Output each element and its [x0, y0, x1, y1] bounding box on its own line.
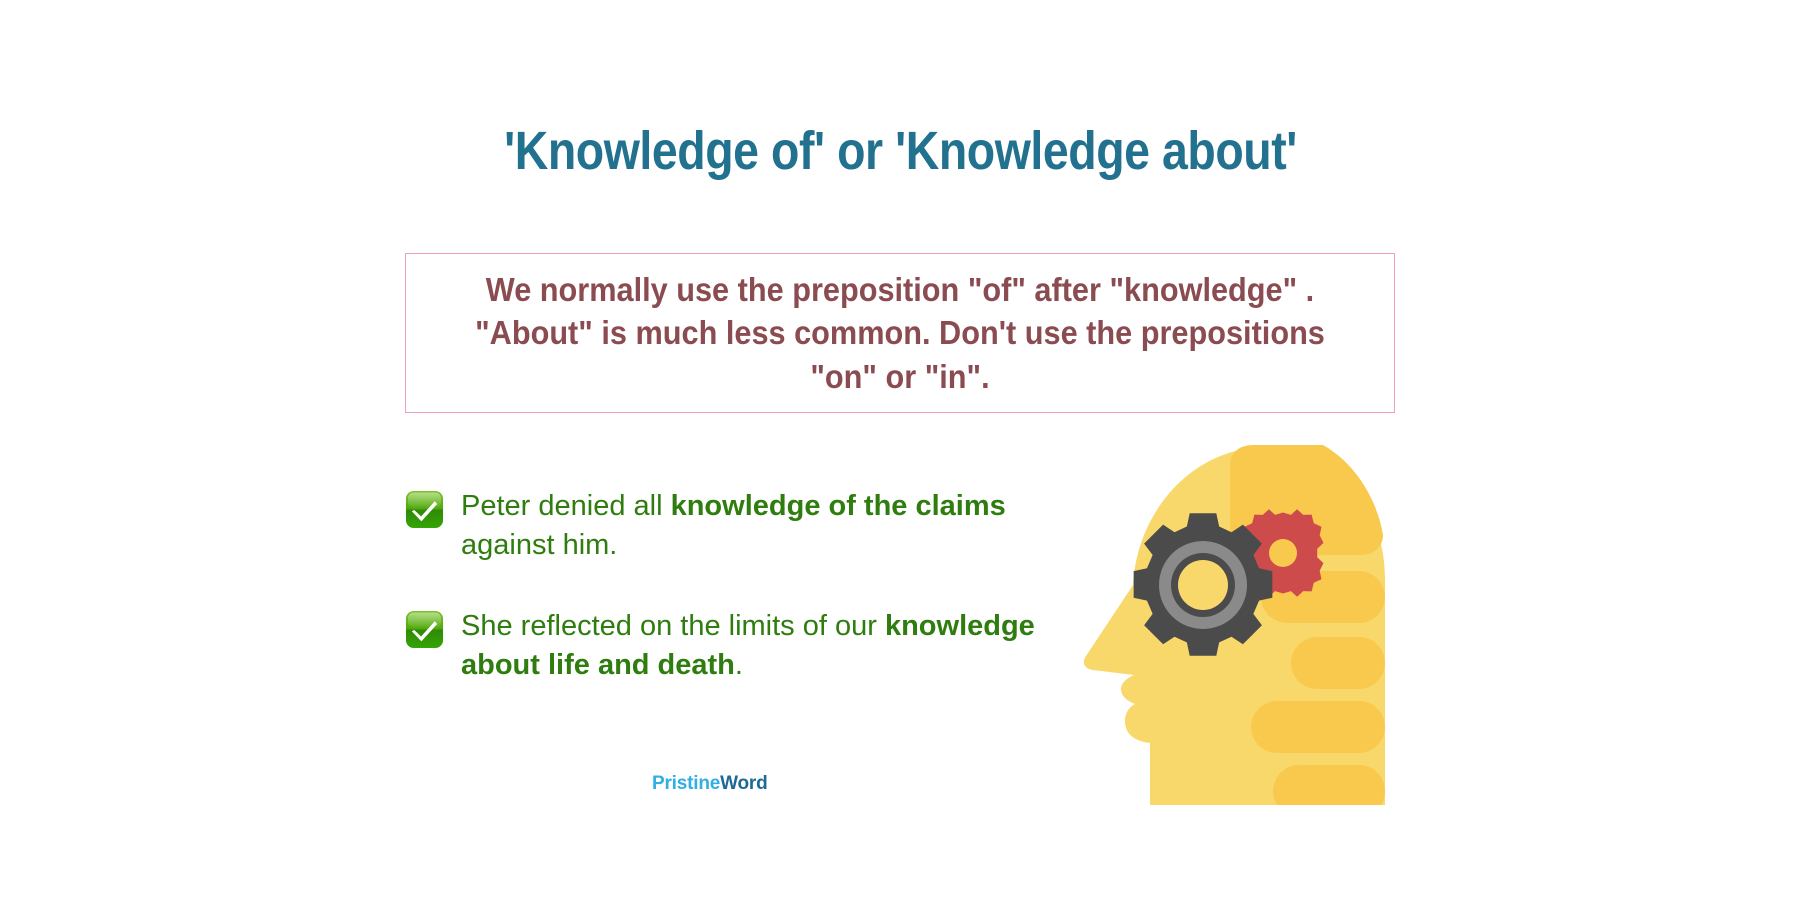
examples-list: Peter denied all knowledge of the claims… — [405, 487, 1035, 726]
example-sentence: Peter denied all knowledge of the claims… — [461, 487, 1035, 565]
green-check-mark-icon — [405, 490, 444, 529]
rule-callout-text: We normally use the preposition "of" aft… — [455, 268, 1344, 399]
head-with-gears-illustration — [1055, 425, 1400, 805]
example-text-highlight: knowledge of the claims — [671, 490, 1006, 522]
green-check-mark-icon — [405, 610, 444, 649]
brand-logo-part-word: Word — [720, 773, 767, 794]
gear-dark-icon — [1134, 513, 1273, 656]
list-item: Peter denied all knowledge of the claims… — [405, 487, 1035, 565]
example-sentence: She reflected on the limits of our knowl… — [461, 607, 1035, 685]
example-text-part: She reflected on the limits of our — [461, 610, 885, 642]
rule-callout-box: We normally use the preposition "of" aft… — [405, 253, 1395, 413]
example-text-part: . — [735, 649, 743, 681]
brand-logo[interactable]: PristineWord — [652, 773, 768, 795]
page-title: 'Knowledge of' or 'Knowledge about' — [126, 120, 1675, 182]
example-text-part: Peter denied all — [461, 490, 671, 522]
brand-logo-part-pristine: Pristine — [652, 773, 720, 794]
list-item: She reflected on the limits of our knowl… — [405, 607, 1035, 685]
example-text-part: against him. — [461, 529, 617, 561]
